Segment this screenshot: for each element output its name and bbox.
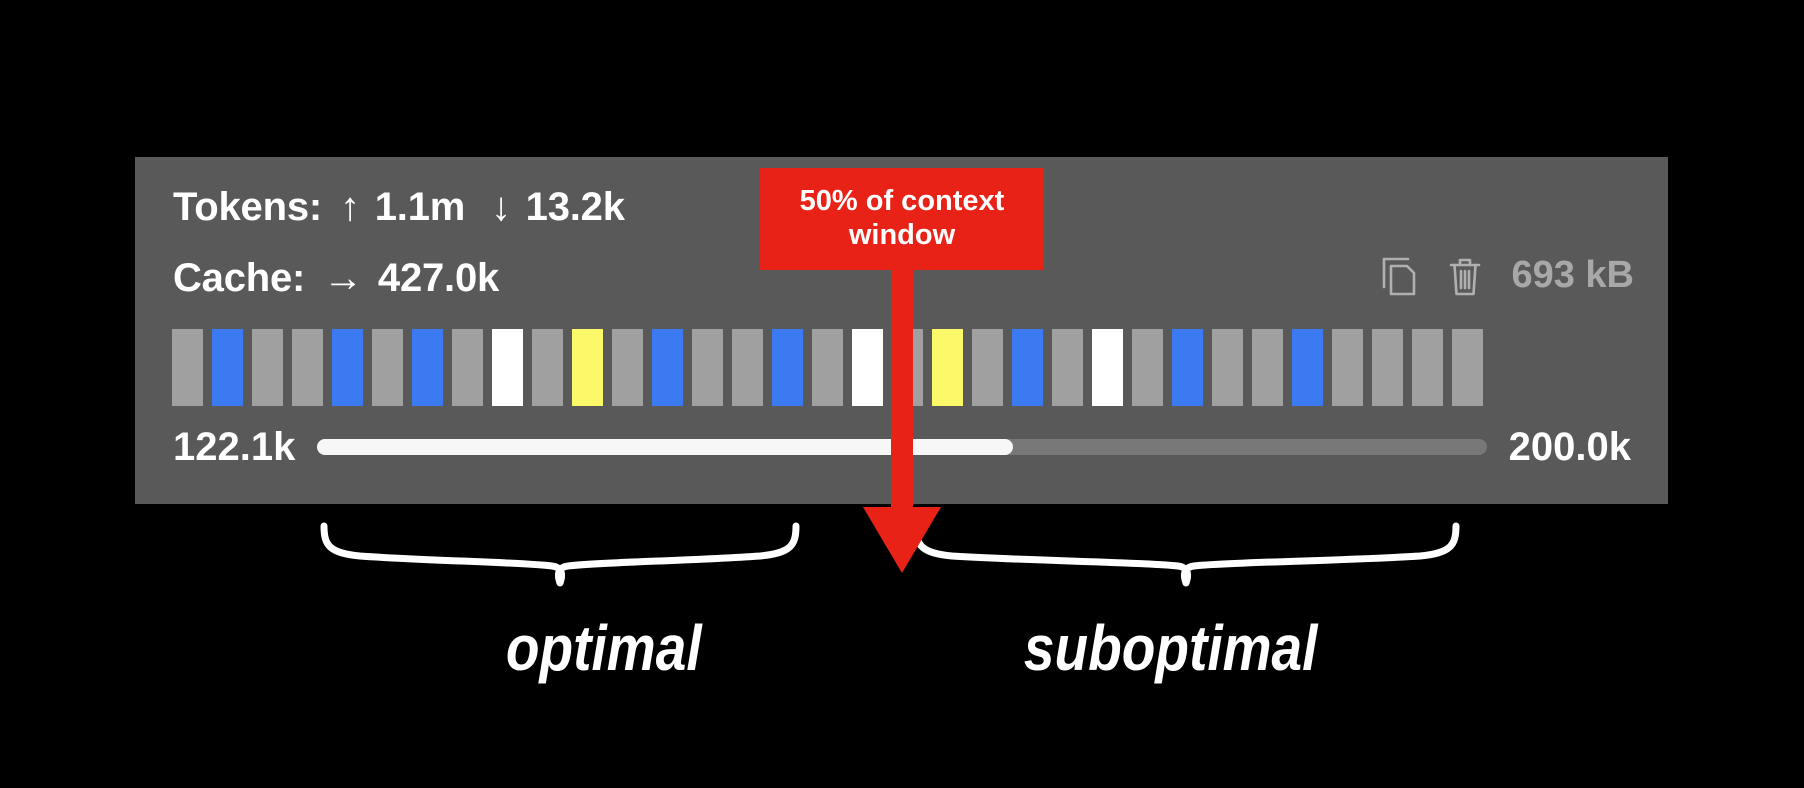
- segment-25-blue: [1172, 329, 1203, 406]
- segment-19-yellow: [932, 329, 963, 406]
- context-status-panel: Tokens:↑ 1.1m ↓ 13.2k Cache:→ 427.0k 693…: [135, 157, 1668, 504]
- progress-track[interactable]: [317, 439, 1486, 455]
- segment-23-white: [1092, 329, 1123, 406]
- segment-18-gray: [892, 329, 923, 406]
- context-progress-row: 122.1k 200.0k: [173, 419, 1631, 475]
- progress-min-label: 122.1k: [173, 427, 295, 467]
- segment-20-gray: [972, 329, 1003, 406]
- cache-value: 427.0k: [378, 256, 499, 300]
- segment-29-gray: [1332, 329, 1363, 406]
- cache-row: Cache:→ 427.0k: [173, 258, 499, 298]
- segment-0-gray: [172, 329, 203, 406]
- segment-15-blue: [772, 329, 803, 406]
- segment-12-blue: [652, 329, 683, 406]
- segment-8-white: [492, 329, 523, 406]
- segment-4-blue: [332, 329, 363, 406]
- segment-16-gray: [812, 329, 843, 406]
- panel-actions: 693 kB: [1379, 253, 1634, 297]
- tokens-label: Tokens:: [173, 185, 322, 229]
- segment-26-gray: [1212, 329, 1243, 406]
- tokens-down-value: 13.2k: [526, 185, 625, 229]
- segment-21-blue: [1012, 329, 1043, 406]
- segment-28-blue: [1292, 329, 1323, 406]
- progress-fill: [317, 439, 1013, 455]
- segment-6-blue: [412, 329, 443, 406]
- segment-32-gray: [1452, 329, 1483, 406]
- tokens-down-icon: ↓: [487, 187, 515, 227]
- label-suboptimal: suboptimal: [1024, 616, 1318, 680]
- segment-22-gray: [1052, 329, 1083, 406]
- segment-2-gray: [252, 329, 283, 406]
- segment-9-gray: [532, 329, 563, 406]
- segment-5-gray: [372, 329, 403, 406]
- segment-17-white: [852, 329, 883, 406]
- progress-max-label: 200.0k: [1509, 427, 1631, 467]
- segment-11-gray: [612, 329, 643, 406]
- segment-31-gray: [1412, 329, 1443, 406]
- segment-30-gray: [1372, 329, 1403, 406]
- segment-1-blue: [212, 329, 243, 406]
- segment-24-gray: [1132, 329, 1163, 406]
- segment-27-gray: [1252, 329, 1283, 406]
- cache-label: Cache:: [173, 256, 305, 300]
- tokens-up-icon: ↑: [336, 187, 364, 227]
- context-size-label: 693 kB: [1511, 256, 1634, 294]
- cache-arrow-icon: →: [319, 258, 367, 298]
- brace-optimal: [320, 520, 800, 590]
- segment-7-gray: [452, 329, 483, 406]
- trash-icon[interactable]: [1445, 253, 1485, 297]
- segment-13-gray: [692, 329, 723, 406]
- segment-14-gray: [732, 329, 763, 406]
- tokens-row: Tokens:↑ 1.1m ↓ 13.2k: [173, 187, 625, 227]
- brace-suboptimal: [912, 520, 1460, 590]
- label-optimal: optimal: [506, 616, 702, 680]
- segment-10-yellow: [572, 329, 603, 406]
- tokens-up-value: 1.1m: [375, 185, 465, 229]
- copy-icon[interactable]: [1379, 253, 1419, 297]
- context-segment-bar: [172, 329, 1632, 406]
- segment-3-gray: [292, 329, 323, 406]
